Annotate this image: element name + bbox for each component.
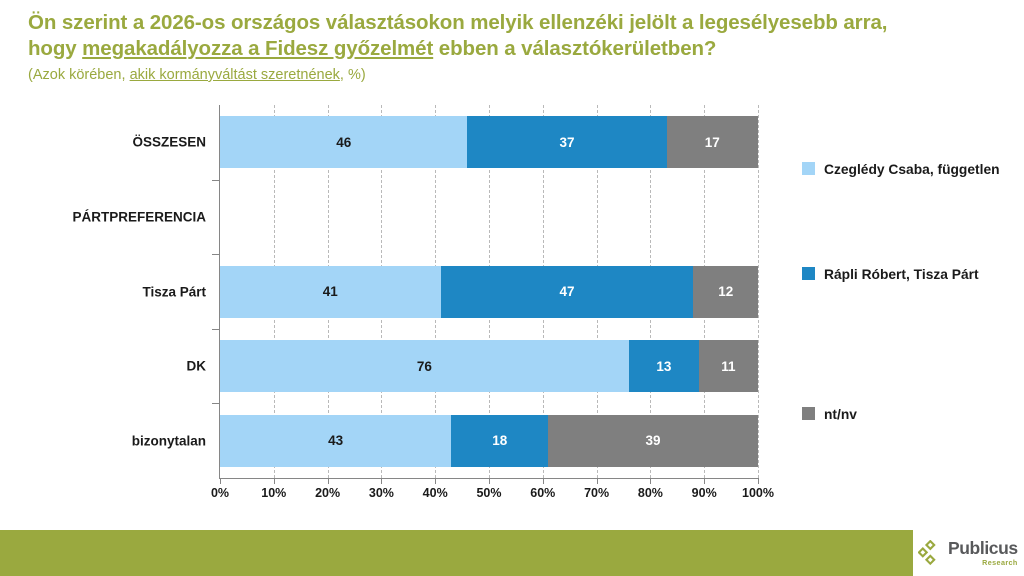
legend-label: Rápli Róbert, Tisza Párt [824, 265, 979, 284]
page-title: Ön szerint a 2026-os országos választáso… [28, 10, 993, 62]
legend-label: Czeglédy Csaba, független [824, 160, 1000, 179]
legend-item-ntnv[interactable]: nt/nv [802, 405, 1020, 424]
bar-row[interactable]: 431839 [220, 415, 758, 467]
legend-label: nt/nv [824, 405, 857, 424]
subtitle-suffix: , %) [340, 67, 366, 83]
category-label-4: DK [0, 359, 206, 374]
x-axis-tick [650, 478, 651, 484]
x-axis-tick [597, 478, 598, 484]
title-line-2-prefix: hogy [28, 37, 82, 60]
publicus-logo: Publicus Research [913, 530, 1024, 576]
x-axis-tick-label: 100% [742, 486, 774, 500]
x-axis-tick [704, 478, 705, 484]
x-axis-tick-label: 30% [369, 486, 394, 500]
footer-bar [0, 530, 913, 576]
title-line-2-underlined: megakadályozza a Fidesz győzelmét [82, 37, 433, 60]
category-label-1: ÖSSZESEN [0, 135, 206, 150]
subtitle-prefix: (Azok körében, [28, 67, 130, 83]
logo-name: Publicus [948, 540, 1018, 558]
x-axis-tick [220, 478, 221, 484]
legend-swatch-icon [802, 162, 815, 175]
stacked-bar-chart: ÖSSZESENPÁRTPREFERENCIATisza PártDKbizon… [0, 100, 790, 505]
x-axis-tick-label: 10% [261, 486, 286, 500]
x-axis-tick [489, 478, 490, 484]
x-axis-tick-label: 40% [423, 486, 448, 500]
page-subtitle: (Azok körében, akik kormányváltást szere… [28, 66, 993, 84]
x-axis-tick [328, 478, 329, 484]
category-axis: ÖSSZESENPÁRTPREFERENCIATisza PártDKbizon… [0, 105, 213, 478]
category-label-5: bizonytalan [0, 433, 206, 448]
title-line-1: Ön szerint a 2026-os országos választáso… [28, 11, 887, 34]
bar-row[interactable]: 463717 [220, 116, 758, 168]
publicus-diamond-icon [918, 540, 944, 566]
bar-segment[interactable]: 37 [467, 116, 666, 168]
x-axis-tick [543, 478, 544, 484]
legend-swatch-icon [802, 407, 815, 420]
category-axis-tick [212, 329, 219, 330]
legend-item-rapli[interactable]: Rápli Róbert, Tisza Párt [802, 265, 1020, 284]
bar-segment[interactable]: 11 [699, 340, 758, 392]
subtitle-underlined: akik kormányváltást szeretnének [130, 67, 340, 83]
category-axis-tick [212, 254, 219, 255]
x-axis-tick-label: 80% [638, 486, 663, 500]
legend-item-czegledy[interactable]: Czeglédy Csaba, független [802, 160, 1020, 179]
x-axis-tick-label: 0% [211, 486, 229, 500]
category-axis-tick [212, 403, 219, 404]
bar-segment[interactable]: 47 [441, 266, 694, 318]
title-line-2-suffix: ebben a választókerületben? [433, 37, 716, 60]
plot-area: 463717414712761311431839 [220, 105, 758, 478]
axis-line-left [219, 105, 220, 478]
x-axis-tick [758, 478, 759, 484]
bar-segment[interactable]: 12 [693, 266, 758, 318]
x-axis-tick-label: 70% [584, 486, 609, 500]
bar-segment[interactable]: 39 [548, 415, 758, 467]
slide-canvas: Ön szerint a 2026-os országos választáso… [0, 0, 1024, 576]
bar-row[interactable]: 761311 [220, 340, 758, 392]
bar-segment[interactable]: 13 [629, 340, 699, 392]
x-axis-tick-label: 60% [530, 486, 555, 500]
bar-segment[interactable]: 46 [220, 116, 467, 168]
x-axis-tick-label: 50% [476, 486, 501, 500]
x-axis-tick [274, 478, 275, 484]
title-block: Ön szerint a 2026-os országos választáso… [28, 10, 993, 84]
x-axis-tick [381, 478, 382, 484]
legend-swatch-icon [802, 267, 815, 280]
logo-subtitle: Research [948, 559, 1018, 566]
bar-segment[interactable]: 41 [220, 266, 441, 318]
x-axis-tick-label: 90% [692, 486, 717, 500]
category-label-3: Tisza Párt [0, 284, 206, 299]
bar-segment[interactable]: 43 [220, 415, 451, 467]
publicus-wordmark: Publicus Research [948, 540, 1018, 566]
bar-segment[interactable]: 18 [451, 415, 548, 467]
bar-segment[interactable]: 17 [667, 116, 758, 168]
category-axis-tick [212, 180, 219, 181]
x-axis-tick [435, 478, 436, 484]
x-axis-tick-label: 20% [315, 486, 340, 500]
gridline [758, 105, 759, 478]
bar-row[interactable]: 414712 [220, 266, 758, 318]
category-label-2: PÁRTPREFERENCIA [0, 209, 206, 224]
bar-segment[interactable]: 76 [220, 340, 629, 392]
